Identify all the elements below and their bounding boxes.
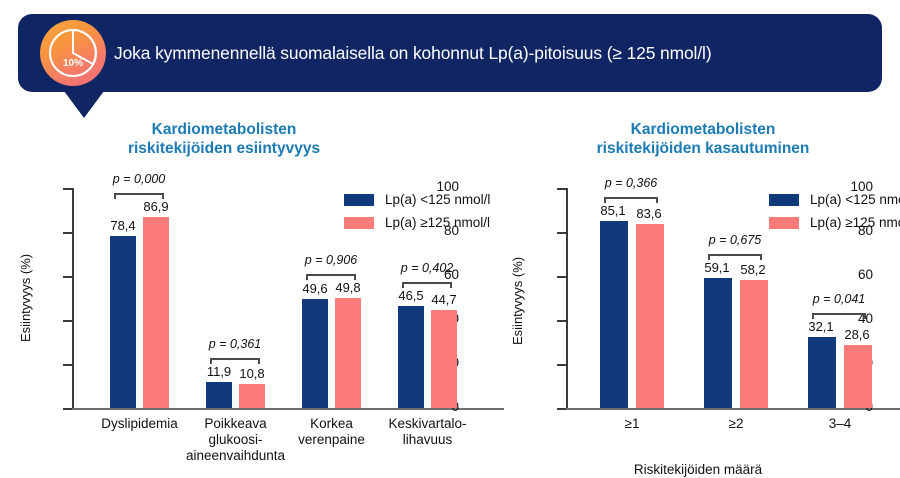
chart-title-prevalence: Kardiometabolisten riskitekijöiden esiin…: [54, 120, 394, 158]
bar-pink: [844, 345, 872, 408]
x-axis-category-line: aineenvaihdunta: [176, 448, 295, 464]
chart-title-clustering: Kardiometabolisten riskitekijöiden kasau…: [526, 120, 880, 158]
plot-area-prevalence: 100806040200 78,486,9p = 0,00011,910,8p …: [72, 188, 472, 408]
bar-value-label: 28,6: [835, 327, 879, 342]
x-axis-category-line: 3–4: [778, 416, 900, 432]
bar-value-label: 10,8: [230, 366, 274, 381]
y-axis-line: [566, 188, 568, 408]
chart-title-line-1: Kardiometabolisten: [54, 120, 394, 139]
x-axis-title-clustering: Riskitekijöiden määrä: [496, 462, 900, 477]
p-value-label: p = 0,675: [709, 233, 761, 247]
y-tick-mark: [557, 232, 566, 234]
p-value-label: p = 0,906: [305, 253, 357, 267]
p-value-label: p = 0,361: [209, 337, 261, 351]
bar-blue: [206, 382, 232, 408]
bar-pink: [143, 217, 169, 408]
y-tick-mark: [63, 232, 72, 234]
pie-chart-percent-label: 10%: [40, 58, 106, 69]
bar-group: 78,486,9p = 0,000: [110, 188, 169, 408]
plot-area-clustering: 100806040200 85,183,6p = 0,36659,158,2p …: [566, 188, 886, 408]
bar-group: 59,158,2p = 0,675: [704, 188, 768, 408]
bar-group: 85,183,6p = 0,366: [600, 188, 664, 408]
y-axis-label-clustering: Esiintyvyys (%): [510, 257, 525, 345]
p-value-label: p = 0,000: [113, 172, 165, 186]
y-tick-mark: [63, 364, 72, 366]
bar-value-label: 58,2: [731, 262, 775, 277]
p-value-label: p = 0,041: [813, 292, 865, 306]
bar-pink: [740, 280, 768, 408]
y-tick-mark: [557, 320, 566, 322]
header-banner: 10% Joka kymmenennellä suomalaisella on …: [18, 14, 882, 92]
chart-panel-prevalence: Kardiometabolisten riskitekijöiden esiin…: [14, 110, 494, 478]
bar-blue: [808, 337, 836, 408]
y-tick-mark: [63, 188, 72, 190]
chart-title-line-1: Kardiometabolisten: [526, 120, 880, 139]
y-tick-mark: [63, 320, 72, 322]
bar-pink: [239, 384, 265, 408]
bar-group: 11,910,8p = 0,361: [206, 188, 265, 408]
chart-title-line-2: riskitekijöiden kasautuminen: [526, 139, 880, 158]
bar-blue: [398, 306, 424, 408]
y-tick-mark: [557, 408, 566, 410]
p-value-label: p = 0,366: [605, 176, 657, 190]
bar-value-label: 44,7: [422, 292, 466, 307]
bar-value-label: 78,4: [101, 218, 145, 233]
chart-title-line-2: riskitekijöiden esiintyvyys: [54, 139, 394, 158]
y-axis-label-prevalence: Esiintyvyys (%): [18, 254, 33, 342]
bar-value-label: 83,6: [627, 206, 671, 221]
chart-panel-clustering: Kardiometabolisten riskitekijöiden kasau…: [496, 110, 900, 478]
bar-pink: [335, 298, 361, 408]
bar-blue: [110, 236, 136, 408]
bar-blue: [704, 278, 732, 408]
x-axis-category-label: Keskivartalo-lihavuus: [368, 416, 487, 448]
x-axis-category-label: 3–4: [778, 416, 900, 432]
y-tick-mark: [63, 276, 72, 278]
y-tick-mark: [63, 408, 72, 410]
y-tick-mark: [557, 188, 566, 190]
bar-group: 46,544,7p = 0,402: [398, 188, 457, 408]
bar-value-label: 86,9: [134, 199, 178, 214]
y-tick-mark: [557, 276, 566, 278]
x-axis-category-line: lihavuus: [368, 432, 487, 448]
banner-title: Joka kymmenennellä suomalaisella on koho…: [114, 14, 862, 92]
bar-group: 32,128,6p = 0,041: [808, 188, 872, 408]
bar-blue: [600, 221, 628, 408]
y-tick-mark: [557, 364, 566, 366]
bar-group: 49,649,8p = 0,906: [302, 188, 361, 408]
bar-value-label: 49,8: [326, 280, 370, 295]
bar-blue: [302, 299, 328, 408]
pie-chart-icon: 10%: [40, 20, 106, 86]
y-axis-line: [72, 188, 74, 408]
p-value-label: p = 0,402: [401, 261, 453, 275]
bar-pink: [431, 310, 457, 408]
x-axis-category-line: Keskivartalo-: [368, 416, 487, 432]
bar-pink: [636, 224, 664, 408]
